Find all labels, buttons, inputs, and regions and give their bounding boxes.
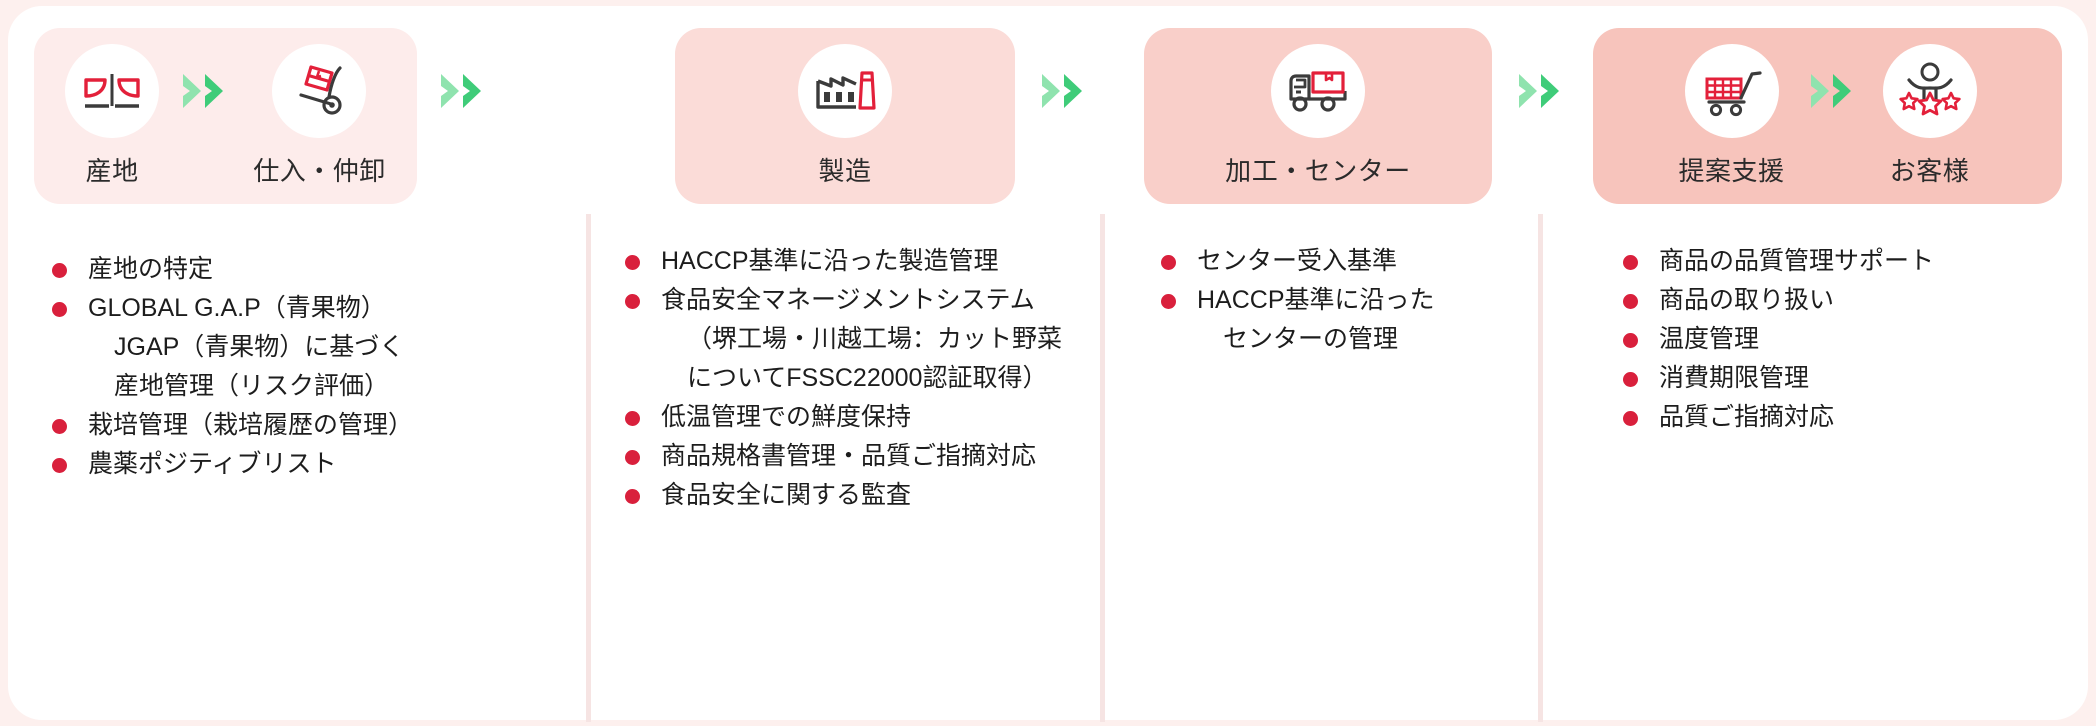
double-chevron-right-icon <box>179 68 233 114</box>
double-chevron-right-icon <box>437 68 491 114</box>
bullet-text: 商品の取り扱い <box>1659 286 1834 314</box>
bullet-subline: JGAP（青果物）に基づく <box>88 328 586 367</box>
diagram-panel: 産地 <box>8 6 2088 720</box>
list-item: HACCP基準に沿った製造管理 <box>619 242 1100 281</box>
list-item: 栽培管理（栽培履歴の管理） <box>46 406 586 445</box>
stage-icon-badge <box>1685 44 1779 138</box>
bullet-subline: についてFSSC22000認証取得） <box>661 359 1100 398</box>
connector-inline-1 <box>179 44 233 138</box>
card-origin-supply: 産地 <box>34 28 417 204</box>
column-origin-supply: 産地の特定 GLOBAL G.A.P（青果物） JGAP（青果物）に基づく 産地… <box>34 214 586 722</box>
bullet-text: 品質ご指摘対応 <box>1659 403 1834 431</box>
column-manufacturing: HACCP基準に沿った製造管理 食品安全マネージメントシステム （堺工場・川越工… <box>586 214 1100 722</box>
bullet-text: 食品安全に関する監査 <box>661 481 911 509</box>
stage-label: お客様 <box>1890 151 1970 188</box>
bullet-subline: （堺工場・川越工場：カット野菜 <box>661 320 1100 359</box>
card-processing-center: 加工・センター <box>1144 28 1492 204</box>
stage-icon-badge <box>65 44 159 138</box>
column-proposal-customer: 商品の品質管理サポート 商品の取り扱い 温度管理 消費期限管理 品質ご指摘対応 <box>1538 214 2062 722</box>
stage-label: 仕入・仲卸 <box>253 151 386 188</box>
stage-label: 提案支援 <box>1678 151 1784 188</box>
bullet-subline: センターの管理 <box>1197 320 1538 359</box>
bullet-text: 産地の特定 <box>88 255 213 283</box>
list-item: 商品規格書管理・品質ご指摘対応 <box>619 437 1100 476</box>
factory-icon <box>812 61 878 122</box>
bullet-text: センター受入基準 <box>1197 247 1397 275</box>
double-chevron-right-icon <box>1515 68 1569 114</box>
list-item: 低温管理での鮮度保持 <box>619 398 1100 437</box>
list-item: 農薬ポジティブリスト <box>46 445 586 484</box>
bullet-text: GLOBAL G.A.P（青果物） <box>88 294 386 322</box>
shopping-cart-icon <box>1700 61 1764 122</box>
connector-1 <box>417 28 510 204</box>
list-item: センター受入基準 <box>1155 242 1538 281</box>
list-item: 産地の特定 <box>46 250 586 289</box>
stage-icon-badge <box>272 44 366 138</box>
stage-cards-row: 産地 <box>8 6 2088 216</box>
stage-icon-badge <box>798 44 892 138</box>
stage-supply[interactable]: 仕入・仲卸 <box>253 28 386 188</box>
bullet-text: 食品安全マネージメントシステム <box>661 286 1035 314</box>
stage-label: 加工・センター <box>1225 151 1411 188</box>
connector-2 <box>1015 28 1115 204</box>
stage-origin[interactable]: 産地 <box>65 28 159 188</box>
double-chevron-right-icon <box>1038 68 1092 114</box>
list-item: 食品安全に関する監査 <box>619 476 1100 515</box>
bullet-text: 低温管理での鮮度保持 <box>661 403 911 431</box>
list-item: 温度管理 <box>1617 320 2062 359</box>
stage-manufacturing[interactable]: 製造 <box>798 28 892 188</box>
list-item: HACCP基準に沿った センターの管理 <box>1155 281 1538 359</box>
column-processing-center: センター受入基準 HACCP基準に沿った センターの管理 <box>1100 214 1538 722</box>
stage-icon-badge <box>1271 44 1365 138</box>
bullet-subline: 産地管理（リスク評価） <box>88 367 586 406</box>
stage-icon-badge <box>1883 44 1977 138</box>
stage-label: 製造 <box>818 151 871 188</box>
happy-customer-stars-icon <box>1897 60 1963 123</box>
connector-inline-2 <box>1807 44 1861 138</box>
list-item: 商品の取り扱い <box>1617 281 2062 320</box>
stage-proposal-support[interactable]: 提案支援 <box>1678 28 1784 188</box>
hand-truck-icon <box>288 59 350 124</box>
bullet-text: 消費期限管理 <box>1659 364 1809 392</box>
list-item: 商品の品質管理サポート <box>1617 242 2062 281</box>
bullet-text: 栽培管理（栽培履歴の管理） <box>88 411 413 439</box>
card-manufacturing: 製造 <box>675 28 1015 204</box>
detail-columns: 産地の特定 GLOBAL G.A.P（青果物） JGAP（青果物）に基づく 産地… <box>8 214 2088 722</box>
list-item: GLOBAL G.A.P（青果物） JGAP（青果物）に基づく 産地管理（リスク… <box>46 289 586 406</box>
bullet-text: 温度管理 <box>1659 325 1759 353</box>
double-chevron-right-icon <box>1807 68 1861 114</box>
connector-3 <box>1492 28 1592 204</box>
bullet-text: 農薬ポジティブリスト <box>88 450 337 478</box>
bullet-text: HACCP基準に沿った <box>1197 286 1435 314</box>
supply-chain-diagram: 産地 <box>0 0 2096 726</box>
list-item: 消費期限管理 <box>1617 359 2062 398</box>
list-item: 品質ご指摘対応 <box>1617 398 2062 437</box>
stage-label: 産地 <box>86 151 139 188</box>
card-proposal-customer: 提案支援 <box>1593 28 2062 204</box>
delivery-truck-icon <box>1285 63 1351 120</box>
sprout-icon <box>81 60 143 123</box>
list-item: 食品安全マネージメントシステム （堺工場・川越工場：カット野菜 についてFSSC… <box>619 281 1100 398</box>
bullet-text: 商品の品質管理サポート <box>1659 247 1934 275</box>
bullet-text: HACCP基準に沿った製造管理 <box>661 247 999 275</box>
stage-processing-center[interactable]: 加工・センター <box>1225 28 1411 188</box>
stage-customer[interactable]: お客様 <box>1883 28 1977 188</box>
bullet-text: 商品規格書管理・品質ご指摘対応 <box>661 442 1036 470</box>
